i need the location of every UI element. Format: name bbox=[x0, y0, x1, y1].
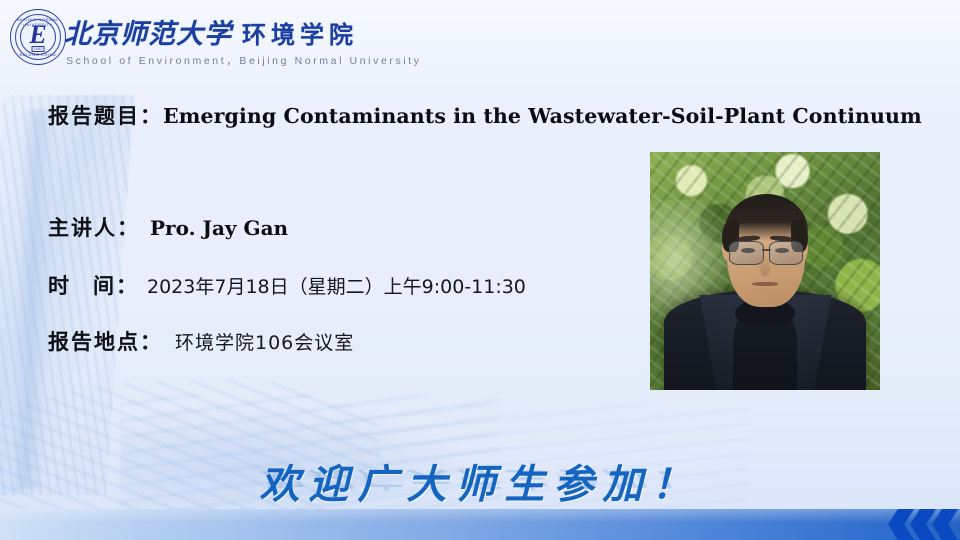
footer-bar bbox=[0, 509, 960, 540]
time-label-second: 间： bbox=[93, 274, 139, 298]
institution-name-cn: 北京师范大学环境学院 bbox=[64, 12, 358, 51]
lecture-title-line: 报告题目：Emerging Contaminants in the Wastew… bbox=[48, 100, 922, 130]
glasses-lens-right bbox=[769, 241, 803, 264]
university-name-cn: 北京师范大学 bbox=[64, 19, 232, 50]
seal-arc-bottom-text: BEIJING CHINA bbox=[11, 52, 65, 57]
slide-canvas: BEIJING NORMAL UNIVERSITY E 1902 BEIJING… bbox=[0, 0, 960, 540]
speaker-label: 主讲人： bbox=[48, 216, 140, 240]
glasses-lens-left bbox=[729, 241, 763, 264]
lecture-title-colon: ： bbox=[140, 104, 163, 128]
speaker-line: 主讲人：Pro. Jay Gan bbox=[48, 212, 288, 242]
lecture-title-label: 报告题目 bbox=[48, 104, 140, 128]
time-line: 时间：2023年7月18日（星期二）上午9:00-11:30 bbox=[48, 270, 526, 300]
portrait-chin bbox=[744, 288, 785, 302]
place-value: 环境学院106会议室 bbox=[175, 332, 354, 354]
place-line: 报告地点：环境学院106会议室 bbox=[48, 326, 354, 356]
watermark-trunk bbox=[9, 110, 56, 491]
footer-chevron-icon-1 bbox=[932, 509, 958, 540]
speaker-value: Pro. Jay Gan bbox=[150, 216, 288, 240]
time-label-first: 时 bbox=[48, 274, 71, 298]
lecture-title-value: Emerging Contaminants in the Wastewater-… bbox=[163, 104, 922, 128]
time-value: 2023年7月18日（星期二）上午9:00-11:30 bbox=[147, 276, 526, 298]
institution-name-en: School of Environment，Beijing Normal Uni… bbox=[66, 53, 422, 68]
footer-sheen bbox=[0, 509, 960, 523]
university-seal-icon: BEIJING NORMAL UNIVERSITY E 1902 BEIJING… bbox=[10, 9, 66, 65]
college-name-cn: 环境学院 bbox=[242, 20, 358, 49]
portrait-mouth bbox=[752, 282, 777, 286]
institution-header: BEIJING NORMAL UNIVERSITY E 1902 BEIJING… bbox=[6, 4, 426, 74]
welcome-calligraphy-reflection: 欢迎广大师生参加！ bbox=[0, 465, 960, 497]
speaker-portrait-photo bbox=[650, 152, 880, 390]
portrait-nose bbox=[760, 254, 769, 275]
place-label: 报告地点： bbox=[48, 330, 163, 354]
